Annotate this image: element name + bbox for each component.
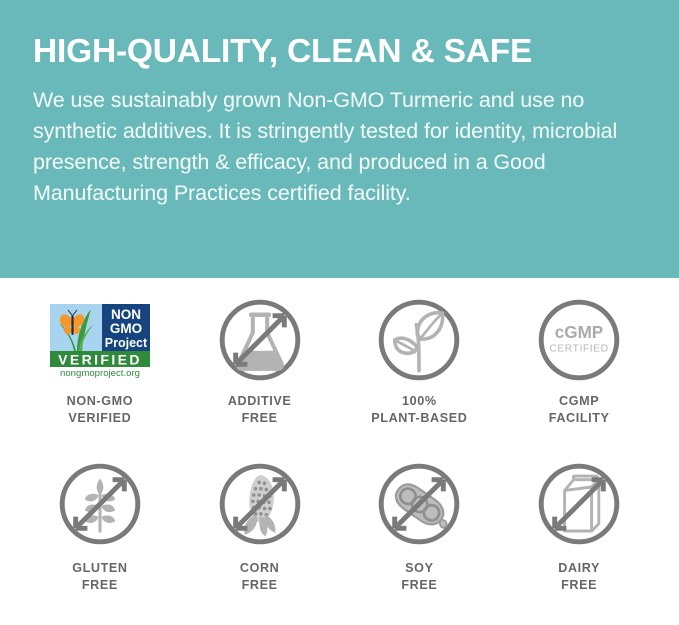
certification-badge-grid: NON GMO Project VERIFIED nongmoproject.o… — [0, 278, 679, 600]
badge-art — [374, 294, 464, 386]
no-wheat-icon — [55, 459, 145, 549]
svg-text:NON: NON — [111, 307, 141, 322]
svg-text:VERIFIED: VERIFIED — [58, 352, 142, 368]
badge-row-1: NON GMO Project VERIFIED nongmoproject.o… — [20, 294, 659, 426]
badge-art — [534, 458, 624, 550]
badge-corn-free: CORN FREE — [180, 458, 340, 593]
badge-label: NON-GMO VERIFIED — [67, 393, 133, 426]
svg-text:Project: Project — [105, 336, 148, 350]
badge-cgmp-facility: cGMP CERTIFIED CGMP FACILITY — [499, 294, 659, 426]
badge-label: SOY FREE — [401, 560, 437, 593]
badge-art — [215, 458, 305, 550]
badge-dairy-free: DAIRY FREE — [499, 458, 659, 593]
hero-banner: HIGH-QUALITY, CLEAN & SAFE We use sustai… — [0, 0, 679, 278]
badge-art — [215, 294, 305, 386]
cgmp-certified-icon: cGMP CERTIFIED — [534, 295, 624, 385]
badge-art — [55, 458, 145, 550]
no-soybean-icon — [374, 459, 464, 549]
badge-plant-based: 100% PLANT-BASED — [340, 294, 500, 426]
badge-soy-free: SOY FREE — [340, 458, 500, 593]
badge-label: CORN FREE — [240, 560, 279, 593]
badge-label: GLUTEN FREE — [72, 560, 127, 593]
badge-gluten-free: GLUTEN FREE — [20, 458, 180, 593]
plant-leaf-icon — [374, 295, 464, 385]
badge-label: ADDITIVE FREE — [228, 393, 292, 426]
badge-label: 100% PLANT-BASED — [371, 393, 467, 426]
svg-text:nongmoproject.org: nongmoproject.org — [60, 368, 140, 379]
no-milk-carton-icon — [534, 459, 624, 549]
badge-row-2: GLUTEN FREE — [20, 458, 659, 593]
non-gmo-project-verified-seal-icon: NON GMO Project VERIFIED nongmoproject.o… — [47, 301, 153, 379]
badge-additive-free: ADDITIVE FREE — [180, 294, 340, 426]
badge-label: CGMP FACILITY — [549, 393, 610, 426]
badge-art: cGMP CERTIFIED — [534, 294, 624, 386]
cgmp-secondary-text: CERTIFIED — [549, 344, 608, 355]
badge-non-gmo-verified: NON GMO Project VERIFIED nongmoproject.o… — [20, 294, 180, 426]
badge-label: DAIRY FREE — [558, 560, 600, 593]
cgmp-primary-text: cGMP — [555, 323, 603, 342]
no-flask-icon — [215, 295, 305, 385]
svg-text:GMO: GMO — [110, 321, 142, 336]
page-title: HIGH-QUALITY, CLEAN & SAFE — [33, 34, 646, 69]
badge-art — [374, 458, 464, 550]
no-corn-icon — [215, 459, 305, 549]
hero-description: We use sustainably grown Non-GMO Turmeri… — [33, 85, 646, 209]
badge-art: NON GMO Project VERIFIED nongmoproject.o… — [47, 294, 153, 386]
